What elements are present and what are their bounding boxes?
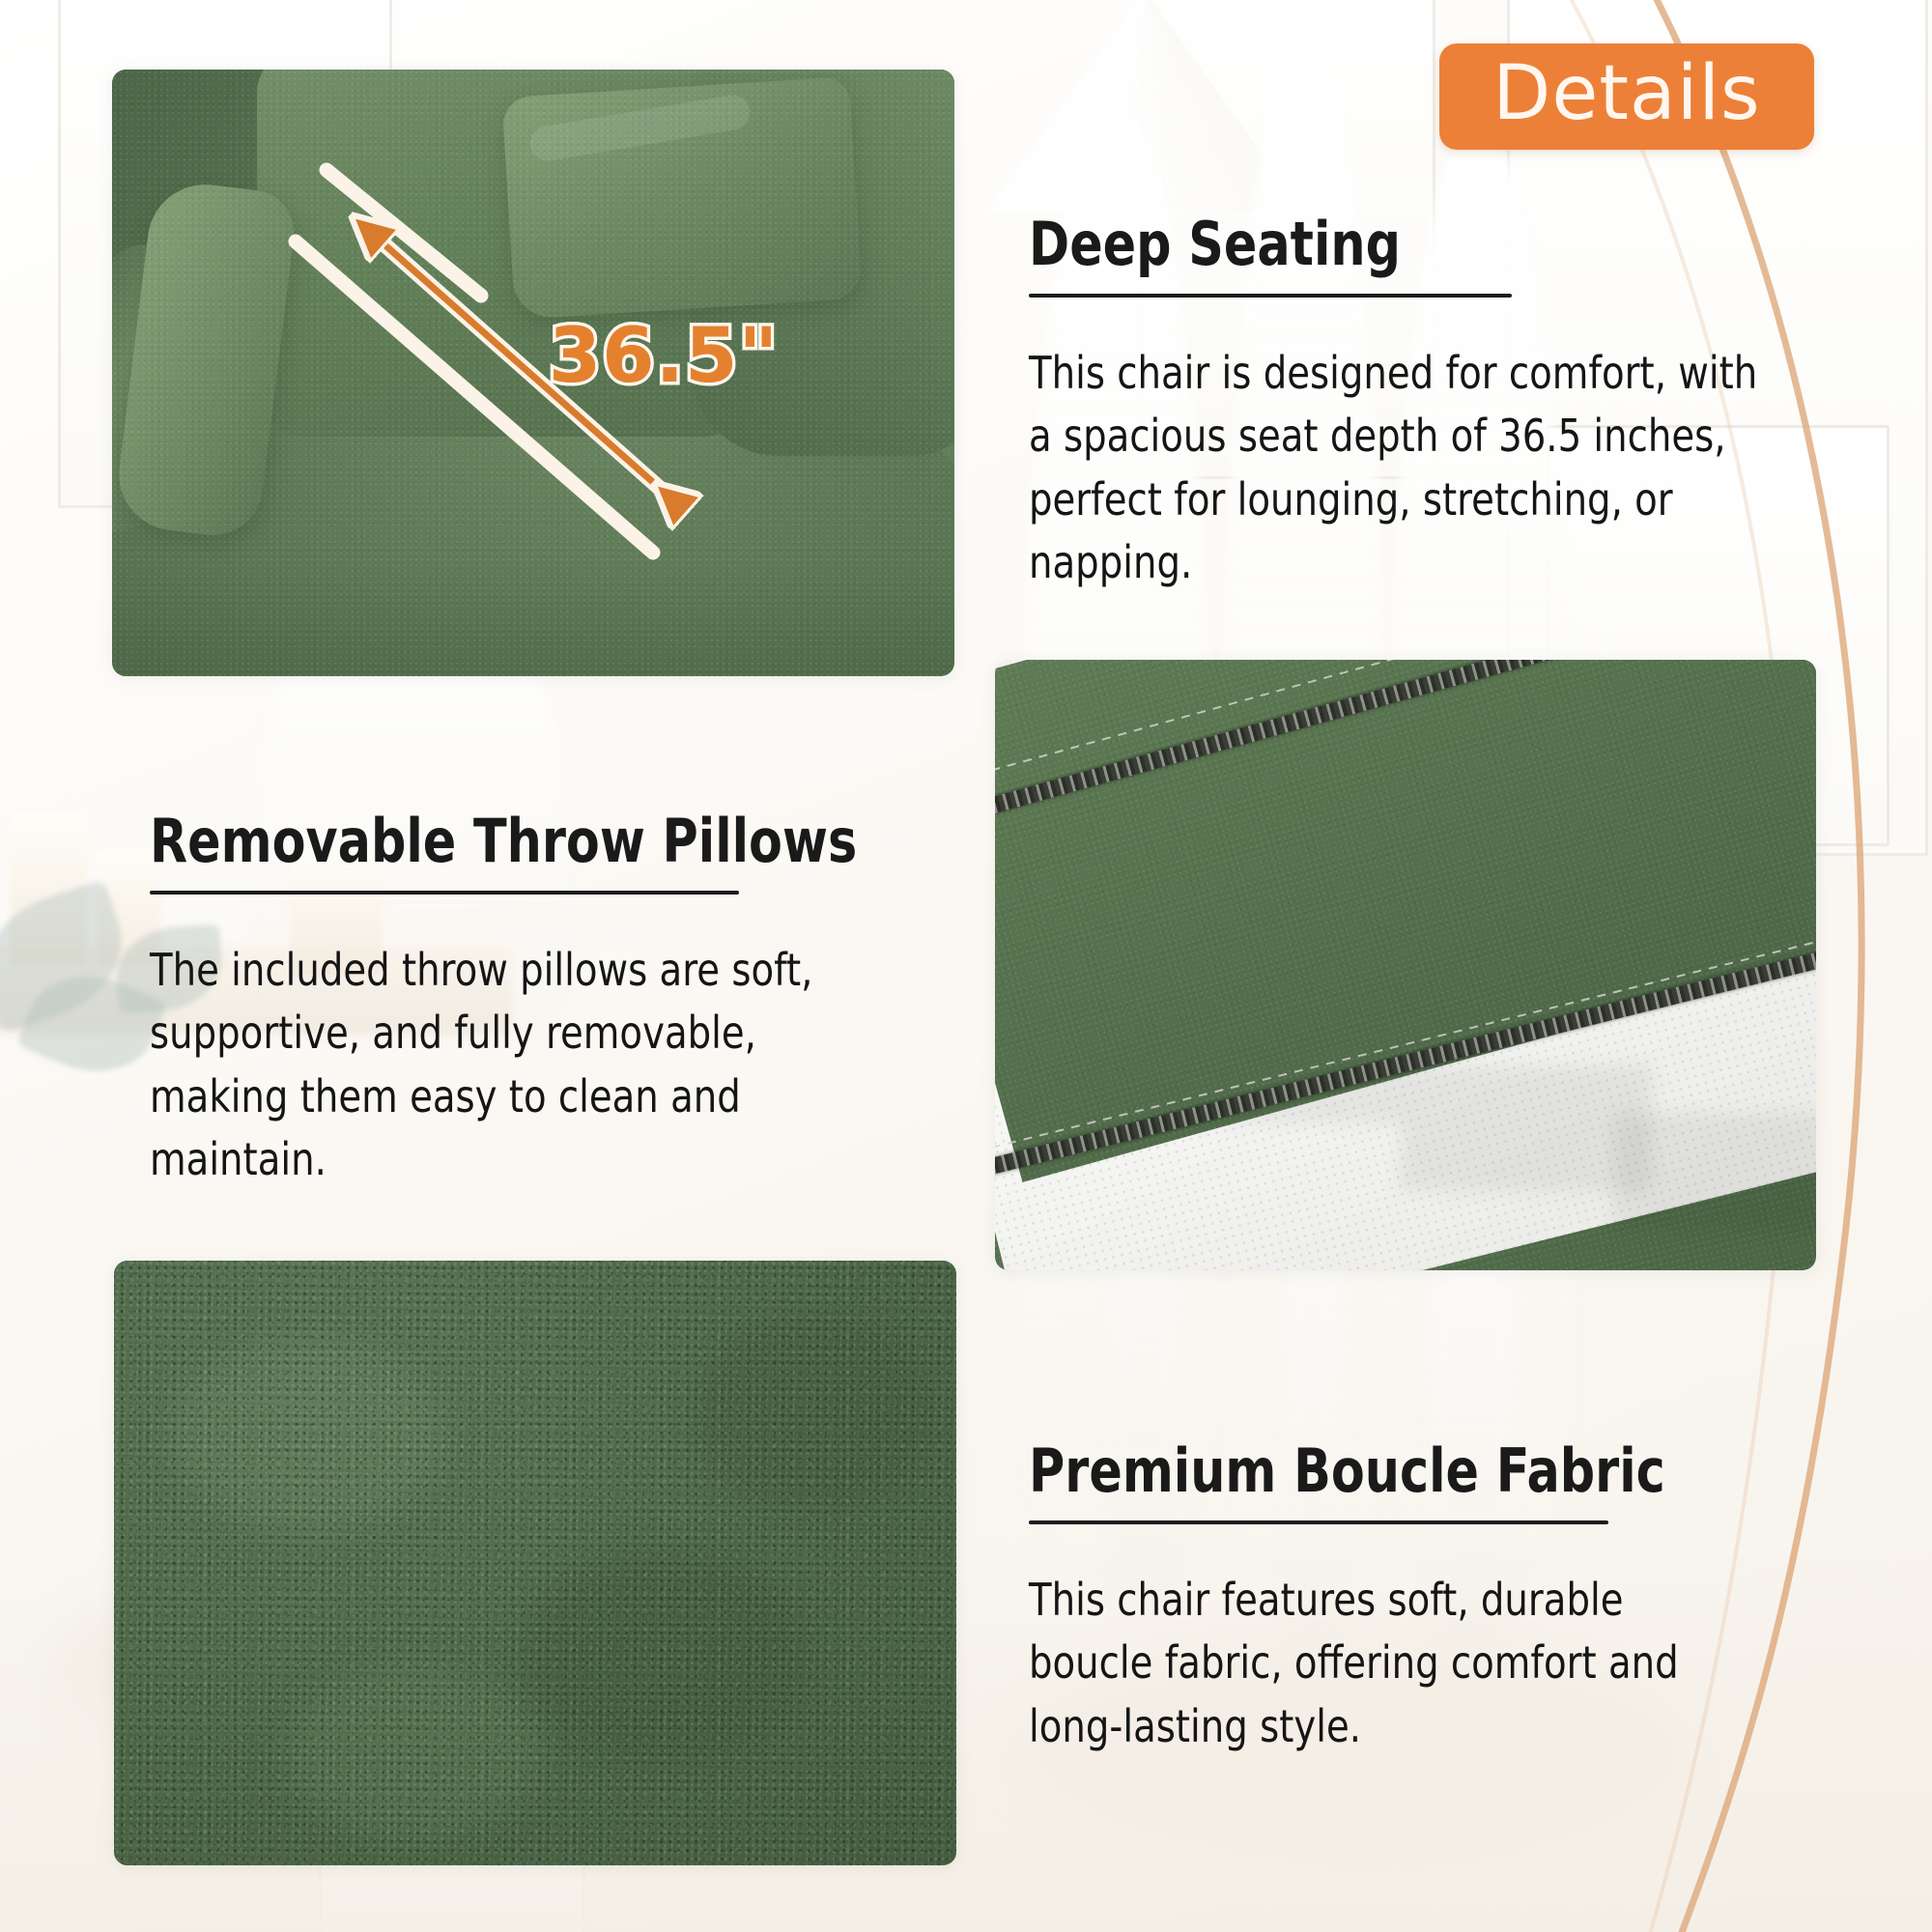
feature-block-deep-seating: Deep Seating This chair is designed for …	[1029, 214, 1879, 594]
deep-seating-rule	[1029, 294, 1512, 298]
throw-pillows-rule	[150, 891, 739, 895]
cushion-zipper-photo	[995, 660, 1816, 1270]
deep-seating-line-4: napping.	[1029, 531, 1743, 594]
details-badge: Details	[1439, 43, 1814, 150]
boucle-fabric-line-2: boucle fabric, offering comfort and	[1029, 1632, 1743, 1694]
throw-pillows-line-3: making them easy to clean and	[150, 1065, 864, 1128]
lining-fold-c	[1613, 1114, 1816, 1230]
bg-plant-leaf-b	[15, 955, 168, 1092]
deep-seating-line-1: This chair is designed for comfort, with	[1029, 342, 1743, 405]
deep-seating-line-2: a spacious seat depth of 36.5 inches,	[1029, 405, 1743, 468]
feature-block-removable-throw-pillows: Removable Throw Pillows The included thr…	[150, 811, 1000, 1191]
throw-pillows-body: The included throw pillows are soft, sup…	[150, 939, 1000, 1191]
chair-seat-depth-photo: 36.5" 36.5"	[112, 70, 954, 676]
seat-depth-arrow	[112, 70, 954, 676]
boucle-fabric-title: Premium Boucle Fabric	[1029, 1441, 1726, 1501]
feature-block-premium-boucle-fabric: Premium Boucle Fabric This chair feature…	[1029, 1441, 1879, 1758]
throw-pillows-line-4: maintain.	[150, 1128, 864, 1191]
throw-pillows-line-1: The included throw pillows are soft,	[150, 939, 864, 1002]
details-badge-label: Details	[1492, 56, 1760, 131]
infographic-canvas: Details	[0, 0, 1932, 1932]
boucle-fabric-line-3: long-lasting style.	[1029, 1695, 1743, 1758]
boucle-fabric-swatch-photo	[114, 1261, 956, 1865]
bg-lampshade	[985, 0, 1304, 213]
throw-pillows-title: Removable Throw Pillows	[150, 811, 847, 871]
deep-seating-line-3: perfect for lounging, stretching, or	[1029, 469, 1743, 531]
bg-candle-a	[10, 811, 87, 966]
boucle-fabric-line-1: This chair features soft, durable	[1029, 1569, 1743, 1632]
deep-seating-title: Deep Seating	[1029, 214, 1726, 274]
boucle-fabric-body: This chair features soft, durable boucle…	[1029, 1569, 1879, 1758]
boucle-fabric-rule	[1029, 1520, 1608, 1524]
deep-seating-body: This chair is designed for comfort, with…	[1029, 342, 1879, 594]
bg-plant-leaf-a	[0, 879, 140, 1034]
swatch-boucle-texture	[114, 1261, 956, 1865]
seat-depth-label: 36.5"	[549, 319, 779, 394]
throw-pillows-line-2: supportive, and fully removable,	[150, 1002, 864, 1065]
